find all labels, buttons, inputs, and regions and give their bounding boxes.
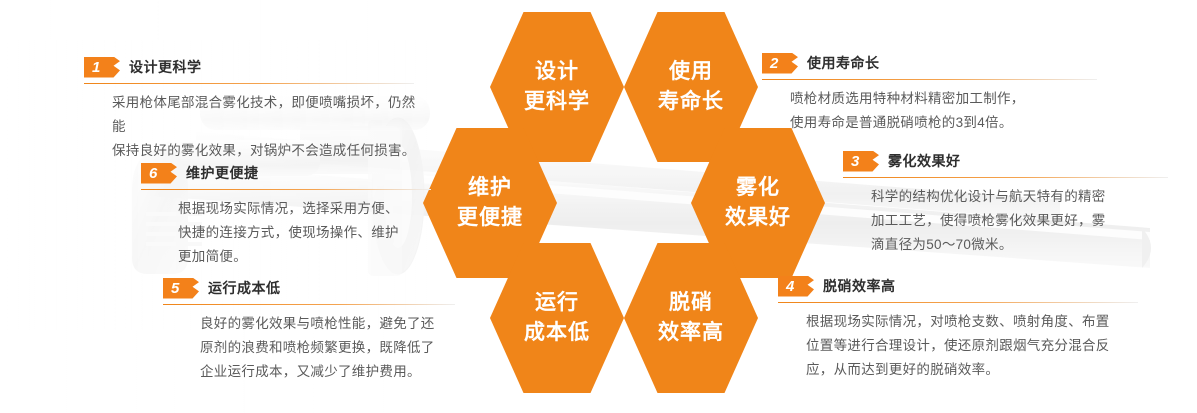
hexagon-design-line2: 更科学 bbox=[524, 87, 590, 117]
feature-4-number-badge: 4 bbox=[778, 276, 814, 297]
feature-3-divider bbox=[843, 177, 1168, 178]
feature-item-3: 3 雾化效果好 科学的结构优化设计与航天特有的精密 加工工艺，使得喷枪雾化效果更… bbox=[843, 150, 1173, 257]
feature-item-5: 5 运行成本低 良好的雾化效果与喷枪性能，避免了还 原剂的浪费和喷枪频繁更换，既… bbox=[163, 277, 483, 384]
feature-3-header: 3 雾化效果好 bbox=[843, 150, 1173, 172]
hexagon-lifespan-line2: 寿命长 bbox=[658, 87, 724, 117]
feature-2-number-badge: 2 bbox=[762, 53, 798, 74]
feature-6-header: 6 维护更便捷 bbox=[141, 162, 461, 184]
feature-item-2: 2 使用寿命长 喷枪材质选用特种材料精密加工制作， 使用寿命是普通脱硝喷枪的3到… bbox=[762, 52, 1102, 135]
feature-2-header: 2 使用寿命长 bbox=[762, 52, 1102, 74]
feature-2-divider bbox=[762, 79, 1097, 80]
hexagon-maintenance-line1: 维护 bbox=[468, 173, 512, 203]
hexagon-cost-line1: 运行 bbox=[535, 288, 579, 318]
feature-1-number-badge: 1 bbox=[84, 57, 120, 78]
feature-6-divider bbox=[141, 189, 431, 190]
feature-4-divider bbox=[778, 302, 1138, 303]
hexagon-denitration-line2: 效率高 bbox=[658, 318, 724, 348]
feature-6-body: 根据现场实际情况，选择采用方便、 快捷的连接方式，使现场操作、维护 更加简便。 bbox=[141, 197, 461, 269]
feature-2-title: 使用寿命长 bbox=[807, 53, 880, 73]
feature-3-body: 科学的结构优化设计与航天特有的精密 加工工艺，使得喷枪雾化效果更好，雾 滴直径为… bbox=[843, 185, 1173, 257]
feature-1-title: 设计更科学 bbox=[129, 57, 202, 77]
feature-4-body: 根据现场实际情况，对喷枪支数、喷射角度、布置 位置等进行合理设计，使还原剂跟烟气… bbox=[778, 310, 1178, 382]
hexagon-cost-line2: 成本低 bbox=[524, 318, 590, 348]
feature-item-4: 4 脱硝效率高 根据现场实际情况，对喷枪支数、喷射角度、布置 位置等进行合理设计… bbox=[778, 275, 1178, 382]
hexagon-lifespan-line1: 使用 bbox=[669, 57, 713, 87]
feature-1-body: 采用枪体尾部混合雾化技术，即便喷嘴损坏，仍然能 保持良好的雾化效果，对锅炉不会造… bbox=[84, 91, 420, 163]
feature-2-body: 喷枪材质选用特种材料精密加工制作， 使用寿命是普通脱硝喷枪的3到4倍。 bbox=[762, 87, 1102, 135]
feature-1-divider bbox=[84, 83, 414, 84]
feature-6-title: 维护更便捷 bbox=[186, 163, 259, 183]
hexagon-denitration-line1: 脱硝 bbox=[669, 288, 713, 318]
feature-5-title: 运行成本低 bbox=[208, 278, 281, 298]
feature-item-1: 1 设计更科学 采用枪体尾部混合雾化技术，即便喷嘴损坏，仍然能 保持良好的雾化效… bbox=[84, 56, 420, 163]
infographic-canvas: 设计 更科学 使用 寿命长 维护 更便捷 雾化 效果好 运行 成本低 脱硝 效率… bbox=[0, 0, 1197, 413]
feature-4-title: 脱硝效率高 bbox=[823, 276, 896, 296]
feature-item-6: 6 维护更便捷 根据现场实际情况，选择采用方便、 快捷的连接方式，使现场操作、维… bbox=[141, 162, 461, 269]
feature-5-number-badge: 5 bbox=[163, 278, 199, 299]
feature-3-title: 雾化效果好 bbox=[888, 151, 961, 171]
feature-6-number-badge: 6 bbox=[141, 163, 177, 184]
feature-4-header: 4 脱硝效率高 bbox=[778, 275, 1178, 297]
feature-3-number-badge: 3 bbox=[843, 151, 879, 172]
hexagon-design-line1: 设计 bbox=[535, 57, 579, 87]
hexagon-atomizing-line2: 效果好 bbox=[725, 203, 791, 233]
hexagon-atomizing-line1: 雾化 bbox=[736, 173, 780, 203]
feature-5-body: 良好的雾化效果与喷枪性能，避免了还 原剂的浪费和喷枪频繁更换，既降低了 企业运行… bbox=[163, 312, 483, 384]
feature-5-header: 5 运行成本低 bbox=[163, 277, 483, 299]
hexagon-maintenance-line2: 更便捷 bbox=[457, 203, 523, 233]
feature-5-divider bbox=[163, 304, 455, 305]
feature-1-header: 1 设计更科学 bbox=[84, 56, 420, 78]
